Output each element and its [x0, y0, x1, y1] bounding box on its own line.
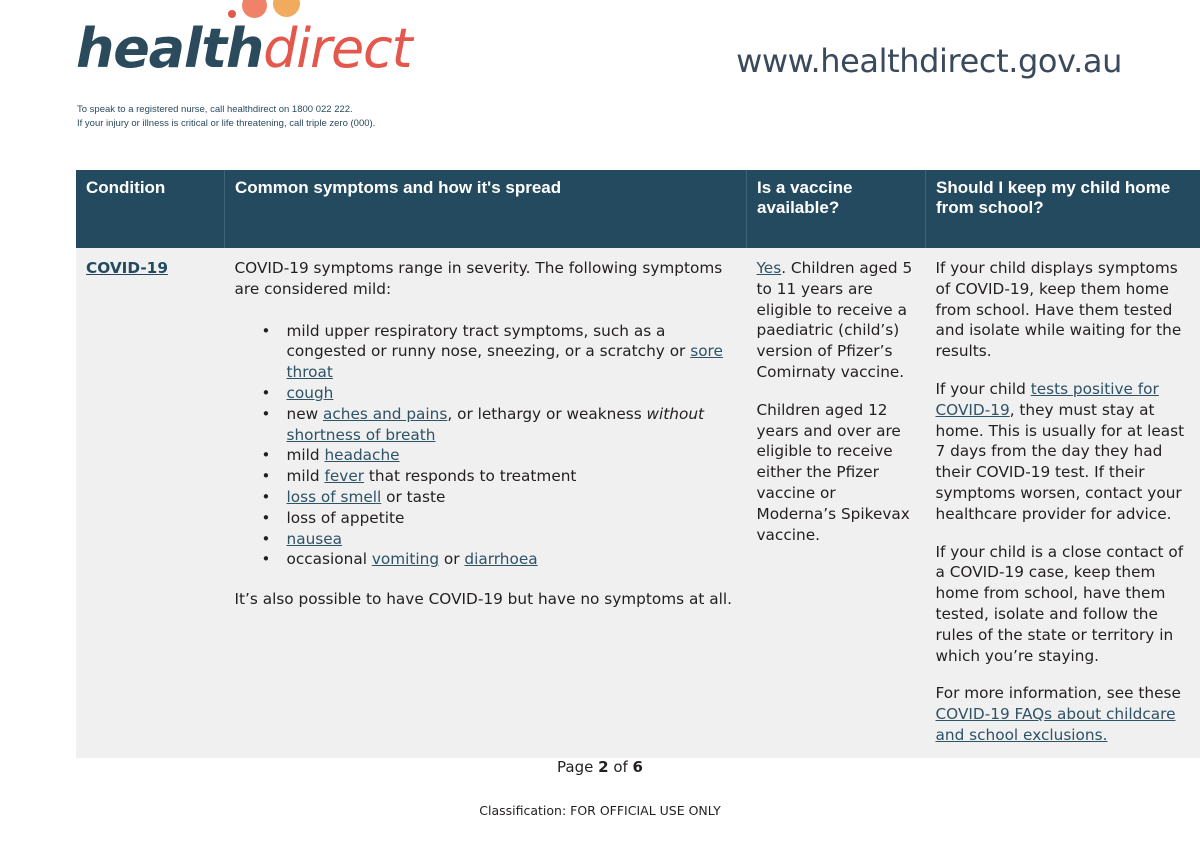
- symptoms-closing-note: It’s also possible to have COVID-19 but …: [235, 589, 737, 610]
- school-paragraph-4-pre: For more information, see these: [936, 684, 1181, 702]
- school-paragraph-3: If your child is a close contact of a CO…: [936, 542, 1198, 667]
- footer-total-pages: 6: [633, 758, 643, 776]
- list-item: mild upper respiratory tract symptoms, s…: [287, 321, 737, 383]
- cell-school: If your child displays symptoms of COVID…: [926, 248, 1200, 758]
- bullet-text-pre: new: [287, 405, 323, 423]
- footer-page-number: Page 2 of 6: [0, 757, 1200, 777]
- column-header-school: Should I keep my child home from school?: [926, 170, 1200, 248]
- site-url: www.healthdirect.gov.au: [736, 42, 1122, 80]
- link-headache[interactable]: headache: [324, 446, 399, 464]
- footer-page-word: Page: [557, 758, 598, 776]
- list-item: loss of appetite: [287, 508, 737, 529]
- tagline-line-2: If your injury or illness is critical or…: [77, 117, 375, 131]
- list-item: mild fever that responds to treatment: [287, 466, 737, 487]
- table-body: COVID-19 COVID-19 symptoms range in seve…: [76, 248, 1200, 758]
- document-page: healthdirect To speak to a registered nu…: [0, 0, 1200, 849]
- link-aches-and-pains[interactable]: aches and pains: [323, 405, 447, 423]
- column-header-symptoms: Common symptoms and how it's spread: [225, 170, 747, 248]
- logo-word-health: health: [76, 17, 263, 80]
- footer-current-page: 2: [598, 758, 608, 776]
- footer-of-word: of: [609, 758, 633, 776]
- logo-wordmark: healthdirect: [76, 18, 411, 80]
- list-item: new aches and pains, or lethargy or weak…: [287, 404, 737, 446]
- bullet-text-pre: mild upper respiratory tract symptoms, s…: [287, 322, 691, 361]
- symptoms-intro: COVID-19 symptoms range in severity. The…: [235, 258, 737, 300]
- logo-dot-medium-icon: [242, 0, 267, 18]
- cell-vaccine: Yes. Children aged 5 to 11 years are eli…: [747, 248, 926, 758]
- school-paragraph-2: If your child tests positive for COVID-1…: [936, 379, 1198, 525]
- vaccine-paragraph-2: Children aged 12 years and over are elig…: [757, 400, 916, 546]
- table-header-row: Condition Common symptoms and how it's s…: [76, 170, 1200, 248]
- page-header: healthdirect To speak to a registered nu…: [0, 0, 1200, 160]
- condition-link-covid19[interactable]: COVID-19: [86, 259, 168, 277]
- header-tagline: To speak to a registered nurse, call hea…: [77, 103, 375, 131]
- list-item: occasional vomiting or diarrhoea: [287, 549, 737, 570]
- list-item: nausea: [287, 529, 737, 550]
- link-yes-vaccine[interactable]: Yes: [757, 259, 782, 277]
- logo-word-direct: direct: [263, 17, 411, 80]
- bullet-text-pre: loss of appetite: [287, 509, 405, 527]
- list-item: loss of smell or taste: [287, 487, 737, 508]
- conditions-table: Condition Common symptoms and how it's s…: [76, 170, 1200, 758]
- symptoms-list: mild upper respiratory tract symptoms, s…: [235, 321, 737, 571]
- link-loss-of-smell[interactable]: loss of smell: [287, 488, 382, 506]
- vaccine-paragraph-1: Yes. Children aged 5 to 11 years are eli…: [757, 258, 916, 383]
- logo-dot-large-icon: [273, 0, 300, 17]
- cell-symptoms: COVID-19 symptoms range in severity. The…: [225, 248, 747, 758]
- bullet-text-mid: or: [439, 550, 464, 568]
- column-header-condition: Condition: [76, 170, 225, 248]
- link-nausea[interactable]: nausea: [287, 530, 343, 548]
- school-paragraph-2-post: , they must stay at home. This is usuall…: [936, 401, 1185, 523]
- school-paragraph-4: For more information, see these COVID-19…: [936, 683, 1198, 745]
- bullet-text-pre: mild: [287, 446, 325, 464]
- table-header: Condition Common symptoms and how it's s…: [76, 170, 1200, 248]
- tagline-line-1: To speak to a registered nurse, call hea…: [77, 103, 375, 117]
- bullet-text-italic-without: without: [647, 405, 705, 423]
- healthdirect-logo: healthdirect: [76, 18, 411, 80]
- bullet-text-post: or taste: [381, 488, 445, 506]
- link-shortness-of-breath[interactable]: shortness of breath: [287, 426, 436, 444]
- link-fever[interactable]: fever: [324, 467, 364, 485]
- vaccine-paragraph-1-rest: . Children aged 5 to 11 years are eligib…: [757, 259, 913, 381]
- bullet-text-post: that responds to treatment: [364, 467, 576, 485]
- school-paragraph-2-pre: If your child: [936, 380, 1031, 398]
- link-cough[interactable]: cough: [287, 384, 334, 402]
- cell-condition: COVID-19: [76, 248, 225, 758]
- school-paragraph-1: If your child displays symptoms of COVID…: [936, 258, 1198, 362]
- list-item: cough: [287, 383, 737, 404]
- table-row: COVID-19 COVID-19 symptoms range in seve…: [76, 248, 1200, 758]
- column-header-vaccine: Is a vaccine available?: [747, 170, 926, 248]
- list-item: mild headache: [287, 445, 737, 466]
- bullet-text-pre: mild: [287, 467, 325, 485]
- footer-classification: Classification: FOR OFFICIAL USE ONLY: [0, 803, 1200, 819]
- link-diarrhoea[interactable]: diarrhoea: [464, 550, 537, 568]
- bullet-text-pre: occasional: [287, 550, 372, 568]
- link-vomiting[interactable]: vomiting: [372, 550, 439, 568]
- link-covid19-faqs-childcare-school-exclusions[interactable]: COVID-19 FAQs about childcare and school…: [936, 705, 1176, 744]
- bullet-text-mid: , or lethargy or weakness: [447, 405, 646, 423]
